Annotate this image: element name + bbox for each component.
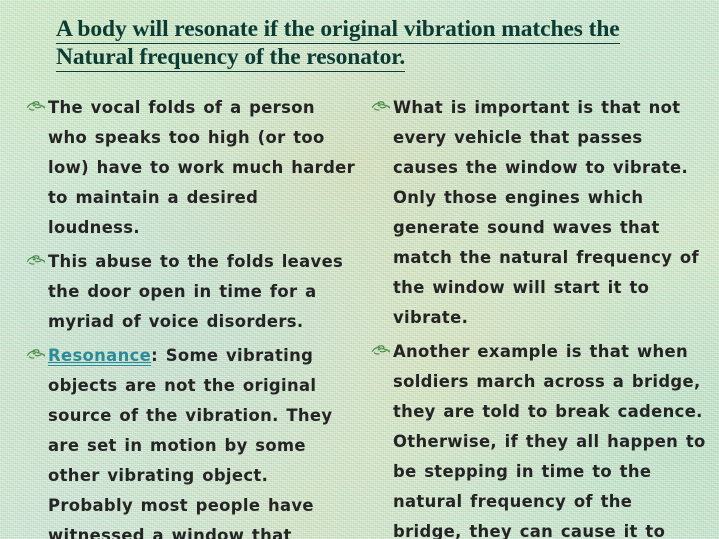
slide-title: A body will resonate if the original vib… <box>56 16 668 72</box>
pointing-hand-bullet-icon <box>371 343 393 356</box>
list-item-text: Another example is that when soldiers ma… <box>393 337 707 539</box>
resonance-hyperlink[interactable]: Resonance <box>48 346 151 366</box>
list-item: Another example is that when soldiers ma… <box>371 337 707 539</box>
list-item: What is important is that not every vehi… <box>371 93 707 333</box>
pointing-hand-bullet-icon <box>26 347 48 360</box>
slide-title-line-2-text: Natural frequency of the resonator. <box>56 44 405 72</box>
presentation-slide: A body will resonate if the original vib… <box>0 0 719 539</box>
list-item: The vocal folds of a person who speaks t… <box>26 93 356 243</box>
slide-content: A body will resonate if the original vib… <box>0 0 719 539</box>
list-item: Resonance: Some vibrating objects are no… <box>26 341 356 539</box>
slide-title-line-1: A body will resonate if the original vib… <box>56 16 668 43</box>
pointing-hand-bullet-icon <box>26 253 48 266</box>
list-item: This abuse to the folds leaves the door … <box>26 247 356 337</box>
slide-title-line-2: Natural frequency of the resonator. <box>56 44 668 71</box>
list-item-text-rest: : Some vibrating objects are not the ori… <box>48 346 332 539</box>
list-item-text: What is important is that not every vehi… <box>393 93 707 333</box>
pointing-hand-bullet-icon <box>26 99 48 112</box>
pointing-hand-bullet-icon <box>371 99 393 112</box>
left-text-column: The vocal folds of a person who speaks t… <box>26 93 356 539</box>
right-text-column: What is important is that not every vehi… <box>371 93 707 539</box>
list-item-text: Resonance: Some vibrating objects are no… <box>48 341 356 539</box>
slide-title-line-1-text: A body will resonate if the original vib… <box>56 16 620 44</box>
list-item-text: This abuse to the folds leaves the door … <box>48 247 356 337</box>
list-item-text: The vocal folds of a person who speaks t… <box>48 93 356 243</box>
